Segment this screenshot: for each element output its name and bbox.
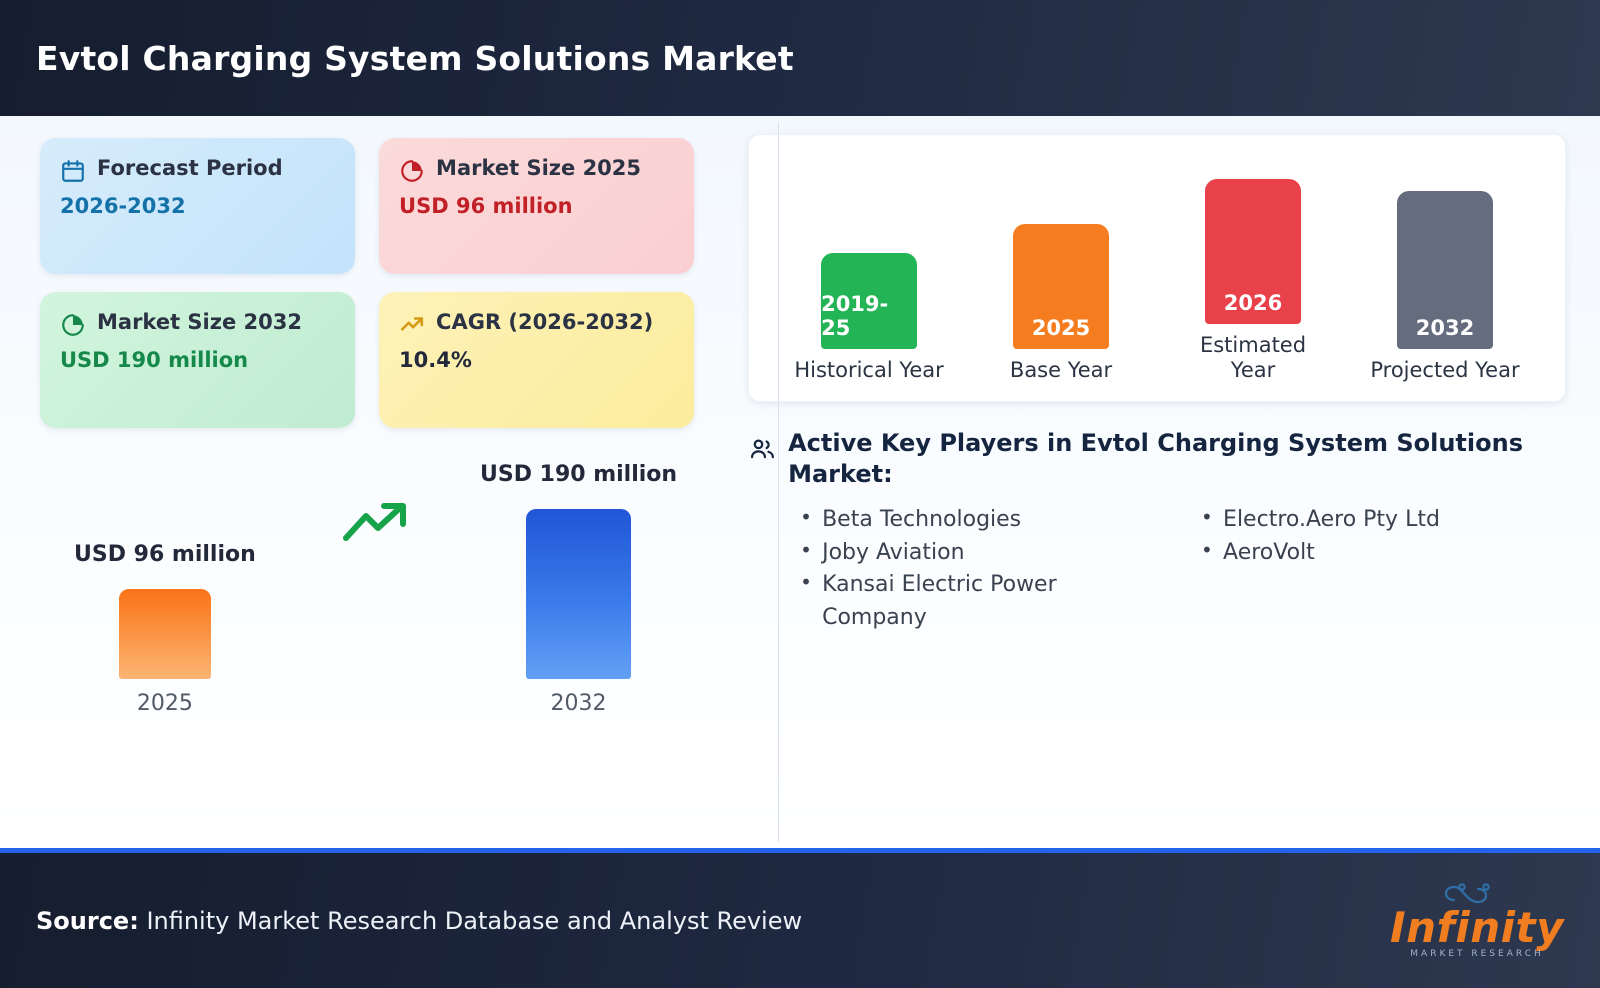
key-players-title: Active Key Players in Evtol Charging Sys…	[788, 428, 1566, 490]
bar-2025	[119, 589, 211, 679]
stat-card-forecast-period: Forecast Period 2026-2032	[40, 138, 355, 274]
year-bar-label: 2026	[1224, 291, 1282, 315]
card-value: USD 96 million	[399, 193, 674, 219]
year-caption: Projected Year	[1370, 358, 1519, 383]
trending-up-arrow-icon	[340, 496, 412, 556]
body-area: Forecast Period 2026-2032 Market Size	[0, 116, 1600, 848]
card-header: Market Size 2032	[60, 310, 335, 342]
card-header: Market Size 2025	[399, 156, 674, 188]
source-value: Infinity Market Research Database and An…	[146, 907, 802, 935]
card-label: Forecast Period	[97, 156, 283, 182]
card-value: 2026-2032	[60, 193, 335, 219]
card-value: USD 190 million	[60, 347, 335, 373]
year-column-estimated: 2026 Estimated Year	[1178, 179, 1328, 383]
list-item: Beta Technologies	[788, 504, 1165, 537]
key-players-list-left: Beta Technologies Joby Aviation Kansai E…	[788, 504, 1165, 634]
stat-cards-grid: Forecast Period 2026-2032 Market Size	[40, 138, 694, 428]
list-item: Kansai Electric Power Company	[788, 569, 1165, 634]
left-panel: Forecast Period 2026-2032 Market Size	[0, 116, 722, 848]
year-column-projected: 2032 Projected Year	[1370, 191, 1520, 383]
card-label: CAGR (2026-2032)	[436, 310, 653, 336]
chart-bar-group-2025: USD 96 million 2025	[74, 542, 256, 716]
year-caption: Base Year	[1010, 358, 1112, 383]
year-bar-label: 2019-25	[821, 292, 917, 340]
year-bar-2025: 2025	[1013, 224, 1109, 349]
brand-logo: Infinity MARKET RESEARCH	[1390, 882, 1564, 960]
year-bar-2032: 2032	[1397, 191, 1493, 349]
logo-wordmark: Infinity	[1390, 908, 1564, 948]
year-bar-2026: 2026	[1205, 179, 1301, 324]
stat-card-cagr: CAGR (2026-2032) 10.4%	[379, 292, 694, 428]
page-title: Evtol Charging System Solutions Market	[36, 39, 794, 78]
key-players-columns: Beta Technologies Joby Aviation Kansai E…	[788, 504, 1566, 634]
year-timeline-chart: 2019-25 Historical Year 2025 Base Year 2…	[748, 134, 1566, 402]
bar-category-label: 2025	[137, 691, 193, 716]
key-players-list-right: Electro.Aero Pty Ltd AeroVolt	[1189, 504, 1566, 634]
year-column-historical: 2019-25 Historical Year	[794, 253, 944, 383]
footer-bar: Source: Infinity Market Research Databas…	[0, 848, 1600, 988]
logo-tagline: MARKET RESEARCH	[1410, 949, 1543, 959]
year-bar-label: 2025	[1032, 316, 1090, 340]
stat-card-market-size-2032: Market Size 2032 USD 190 million	[40, 292, 355, 428]
stat-card-market-size-2025: Market Size 2025 USD 96 million	[379, 138, 694, 274]
year-caption: Historical Year	[794, 358, 944, 383]
card-label: Market Size 2032	[97, 310, 302, 336]
right-panel: 2019-25 Historical Year 2025 Base Year 2…	[722, 116, 1600, 848]
trending-up-icon	[399, 312, 425, 342]
infographic-root: Evtol Charging System Solutions Market	[0, 0, 1600, 988]
year-bar-label: 2032	[1416, 316, 1474, 340]
source-line: Source: Infinity Market Research Databas…	[36, 907, 802, 935]
year-column-base: 2025 Base Year	[986, 224, 1136, 383]
year-bar-2019-25: 2019-25	[821, 253, 917, 349]
year-caption: Estimated Year	[1178, 333, 1328, 383]
list-item: Electro.Aero Pty Ltd	[1189, 504, 1566, 537]
chart-bar-group-2032: USD 190 million 2032	[480, 462, 677, 716]
bar-value-label: USD 190 million	[480, 462, 677, 487]
bar-category-label: 2032	[551, 691, 607, 716]
calendar-icon	[60, 158, 86, 188]
bar-2032	[526, 509, 631, 679]
card-header: Forecast Period	[60, 156, 335, 188]
pie-chart-icon	[60, 312, 86, 342]
pie-chart-icon	[399, 158, 425, 188]
list-item: Joby Aviation	[788, 537, 1165, 570]
bar-value-label: USD 96 million	[74, 542, 256, 567]
market-size-comparison-chart: USD 96 million 2025 USD 190 million 2032	[40, 434, 694, 848]
list-item: AeroVolt	[1189, 537, 1566, 570]
card-header: CAGR (2026-2032)	[399, 310, 674, 342]
header-bar: Evtol Charging System Solutions Market	[0, 0, 1600, 116]
people-icon	[748, 435, 776, 635]
card-value: 10.4%	[399, 347, 674, 373]
key-players-body: Active Key Players in Evtol Charging Sys…	[788, 428, 1566, 635]
source-label: Source:	[36, 907, 139, 935]
card-label: Market Size 2025	[436, 156, 641, 182]
key-players-section: Active Key Players in Evtol Charging Sys…	[748, 428, 1566, 635]
panel-divider	[778, 122, 779, 842]
